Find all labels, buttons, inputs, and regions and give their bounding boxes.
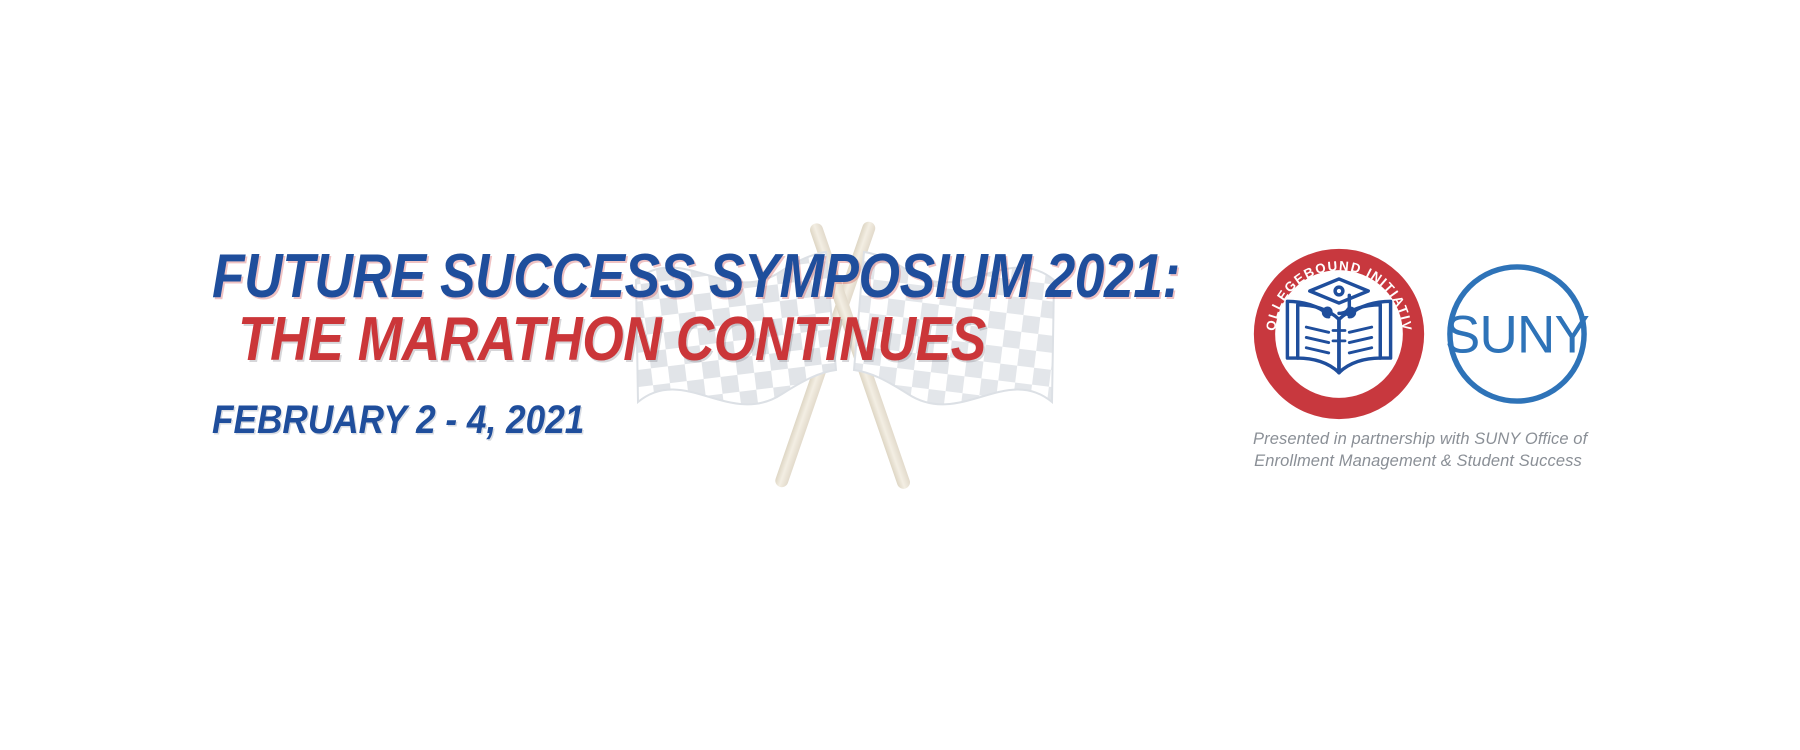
suny-wordmark: SUNY xyxy=(1445,306,1590,365)
event-date: FEBRUARY 2 - 4, 2021 xyxy=(212,400,951,440)
collegebound-initiative-seal-logo: COLLEGEBOUND INITIATIVE ★ EST 2001 ★ xyxy=(1253,248,1425,420)
logo-cluster: COLLEGEBOUND INITIATIVE ★ EST 2001 ★ xyxy=(1253,248,1613,472)
event-subtitle-line-2: THE MARATHON CONTINUES xyxy=(238,308,938,372)
title-block: FUTURE SUCCESS SYMPOSIUM 2021: THE MARAT… xyxy=(212,246,1052,440)
event-title-line-1: FUTURE SUCCESS SYMPOSIUM 2021: xyxy=(212,246,934,308)
event-banner: FUTURE SUCCESS SYMPOSIUM 2021: THE MARAT… xyxy=(0,0,1800,750)
seal-book-and-cap-mark xyxy=(1287,279,1390,373)
logo-row: COLLEGEBOUND INITIATIVE ★ EST 2001 ★ xyxy=(1253,248,1613,420)
partnership-line-2: Enrollment Management & Student Success xyxy=(1253,450,1583,472)
partnership-credit: Presented in partnership with SUNY Offic… xyxy=(1253,428,1583,472)
suny-logo: SUNY xyxy=(1439,256,1595,412)
partnership-line-1: Presented in partnership with SUNY Offic… xyxy=(1253,428,1583,450)
